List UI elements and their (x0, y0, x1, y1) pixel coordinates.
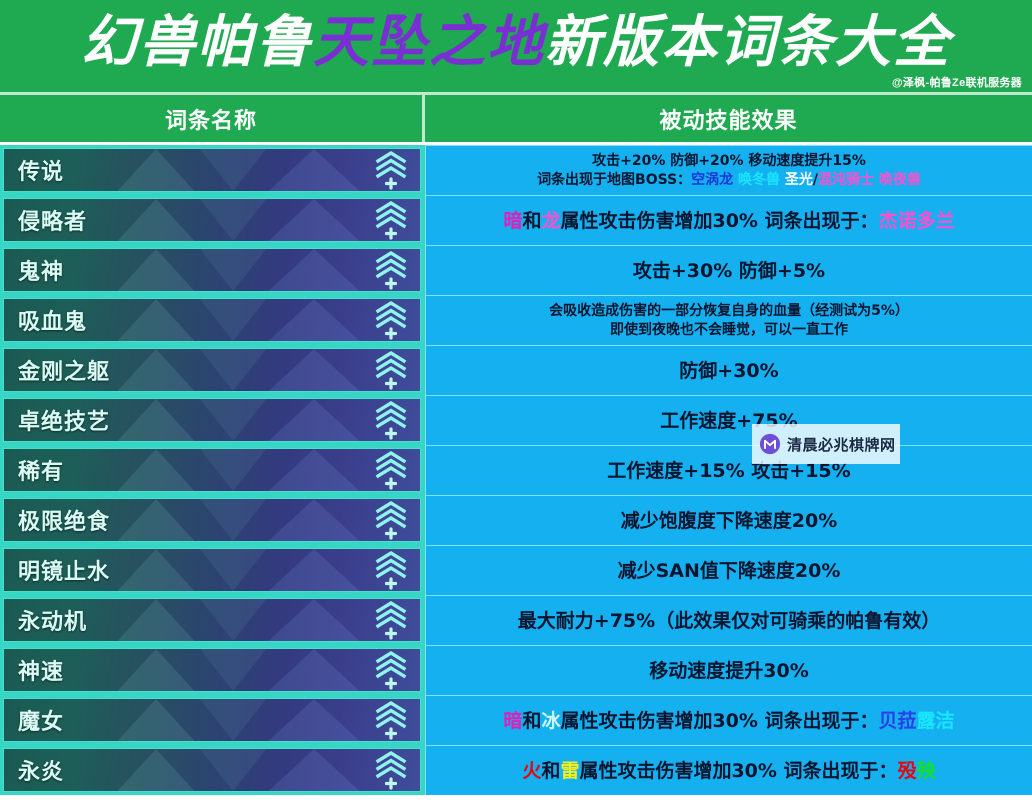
column-header-name: 词条名称 (0, 95, 425, 142)
trait-effect-cell: 工作速度+75% (425, 395, 1032, 445)
title-segment-3: 新版本词条大全 (545, 9, 951, 75)
effect-text-part: 减少饱腹度下降速度20% (621, 510, 837, 532)
table-row: 明镜止水减少SAN值下降速度20% (0, 545, 1032, 595)
effect-text-part: 移动速度提升30% (649, 660, 808, 682)
triple-chevron-plus-icon (374, 650, 408, 690)
trait-plaque: 魔女 (3, 698, 421, 742)
table-row: 吸血鬼会吸收造成伤害的一部分恢复自身的血量（经测试为5%）即使到夜晚也不会睡觉，… (0, 295, 1032, 345)
trait-effect-cell: 会吸收造成伤害的一部分恢复自身的血量（经测试为5%）即使到夜晚也不会睡觉，可以一… (425, 295, 1032, 345)
table-column-headers: 词条名称 被动技能效果 (0, 95, 1032, 145)
trait-name-label: 稀有 (18, 454, 64, 486)
effect-text-part: 即使到夜晚也不会睡觉，可以一直工作 (610, 322, 848, 338)
table-row: 侵略者暗和龙属性攻击伤害增加30% 词条出现于：杰诺多兰 (0, 195, 1032, 245)
triple-chevron-plus-icon (374, 300, 408, 340)
effect-text-part: 最大耐力+75%（此效果仅对可骑乘的帕鲁有效） (518, 610, 940, 632)
effect-line: 词条出现于地图BOSS：空涡龙 唤冬兽 圣光/混沌骑士 唤夜兽 (537, 171, 921, 190)
effect-text-part: 唤冬兽 (738, 172, 780, 188)
trait-name-label: 永动机 (18, 604, 87, 636)
effect-line: 防御+30% (679, 359, 778, 383)
triple-chevron-plus-icon (374, 350, 408, 390)
plaque-facet (195, 598, 271, 641)
trait-name-label: 卓绝技艺 (18, 404, 110, 436)
infographic-page: 幻兽帕鲁天坠之地新版本词条大全 @泽枫-帕鲁Ze联机服务器 词条名称 被动技能效… (0, 0, 1032, 800)
trait-plaque: 极限绝食 (3, 498, 421, 542)
effect-text-part: 唤夜兽 (879, 172, 921, 188)
triple-chevron-plus-icon (374, 300, 408, 340)
triple-chevron-plus-icon (374, 400, 408, 440)
effect-text-part: 属性攻击伤害增加30% 词条出现于： (560, 710, 878, 732)
page-title: 幻兽帕鲁天坠之地新版本词条大全 (0, 6, 1032, 78)
trait-name-label: 神速 (18, 654, 64, 686)
trait-effect-cell: 攻击+20% 防御+20% 移动速度提升15%词条出现于地图BOSS：空涡龙 唤… (425, 145, 1032, 195)
triple-chevron-plus-icon (374, 400, 408, 440)
effect-text-part: 龙 (541, 210, 560, 232)
effect-text-part: 空涡龙 (691, 172, 733, 188)
effect-text-part: 冰 (541, 710, 560, 732)
plaque-facet (195, 698, 271, 741)
effect-line: 暗和龙属性攻击伤害增加30% 词条出现于：杰诺多兰 (503, 209, 954, 233)
plaque-facet (195, 348, 271, 391)
table-row: 稀有工作速度+15% 攻击+15% (0, 445, 1032, 495)
column-header-effect: 被动技能效果 (425, 95, 1032, 142)
passive-trait-table: 传说攻击+20% 防御+20% 移动速度提升15%词条出现于地图BOSS：空涡龙… (0, 145, 1032, 795)
effect-line: 移动速度提升30% (649, 659, 808, 683)
trait-plaque: 吸血鬼 (3, 298, 421, 342)
effect-line: 最大耐力+75%（此效果仅对可骑乘的帕鲁有效） (518, 609, 940, 633)
triple-chevron-plus-icon (374, 650, 408, 690)
plaque-facet (195, 448, 271, 491)
trait-name-cell[interactable]: 鬼神 (0, 245, 425, 295)
effect-text-part: 属性攻击伤害增加30% 词条出现于： (579, 760, 897, 782)
trait-plaque: 永炎 (3, 748, 421, 792)
triple-chevron-plus-icon (374, 550, 408, 590)
table-row: 鬼神攻击+30% 防御+5% (0, 245, 1032, 295)
triple-chevron-plus-icon (374, 700, 408, 740)
plaque-facet (195, 648, 271, 691)
trait-name-label: 传说 (18, 154, 64, 186)
plaque-facet (195, 498, 271, 541)
trait-plaque: 神速 (3, 648, 421, 692)
triple-chevron-plus-icon (374, 250, 408, 290)
trait-name-label: 金刚之躯 (18, 354, 110, 386)
trait-plaque: 明镜止水 (3, 548, 421, 592)
table-row: 魔女暗和冰属性攻击伤害增加30% 词条出现于：贝菈露洁 (0, 695, 1032, 745)
trait-name-cell[interactable]: 稀有 (0, 445, 425, 495)
effect-text-part: 雷 (560, 760, 579, 782)
trait-name-cell[interactable]: 传说 (0, 145, 425, 195)
effect-text-part: 杰诺多兰 (879, 210, 955, 232)
effect-text-part: 和 (541, 760, 560, 782)
table-row: 极限绝食减少饱腹度下降速度20% (0, 495, 1032, 545)
trait-name-cell[interactable]: 吸血鬼 (0, 295, 425, 345)
trait-plaque: 卓绝技艺 (3, 398, 421, 442)
source-watermark: @泽枫-帕鲁Ze联机服务器 (892, 76, 1022, 90)
effect-line: 暗和冰属性攻击伤害增加30% 词条出现于：贝菈露洁 (503, 709, 954, 733)
effect-text-part: 工作速度+75% (660, 410, 797, 432)
effect-text-part: 和 (522, 710, 541, 732)
effect-text-part: 攻击+30% 防御+5% (633, 260, 825, 282)
triple-chevron-plus-icon (374, 200, 408, 240)
trait-name-label: 侵略者 (18, 204, 87, 236)
table-row: 永动机最大耐力+75%（此效果仅对可骑乘的帕鲁有效） (0, 595, 1032, 645)
plaque-facet (195, 748, 271, 791)
title-banner: 幻兽帕鲁天坠之地新版本词条大全 @泽枫-帕鲁Ze联机服务器 (0, 0, 1032, 95)
effect-text-part: 露洁 (917, 710, 955, 732)
trait-name-cell[interactable]: 极限绝食 (0, 495, 425, 545)
effect-line: 减少饱腹度下降速度20% (621, 509, 837, 533)
effect-text-part: 防御+30% (679, 360, 778, 382)
effect-text-part: 混沌骑士 (818, 172, 874, 188)
triple-chevron-plus-icon (374, 450, 408, 490)
title-segment-2: 天坠之地 (313, 9, 545, 75)
title-segment-1: 幻兽帕鲁 (81, 9, 313, 75)
triple-chevron-plus-icon (374, 200, 408, 240)
trait-name-cell[interactable]: 侵略者 (0, 195, 425, 245)
trait-name-label: 永炎 (18, 754, 64, 786)
trait-effect-cell: 火和雷属性攻击伤害增加30% 词条出现于：殁殃 (425, 745, 1032, 795)
trait-name-cell[interactable]: 卓绝技艺 (0, 395, 425, 445)
triple-chevron-plus-icon (374, 150, 408, 190)
table-row: 金刚之躯防御+30% (0, 345, 1032, 395)
effect-text-part: 减少SAN值下降速度20% (618, 560, 841, 582)
plaque-facet (195, 398, 271, 441)
triple-chevron-plus-icon (374, 350, 408, 390)
table-row: 卓绝技艺工作速度+75% (0, 395, 1032, 445)
trait-effect-cell: 暗和龙属性攻击伤害增加30% 词条出现于：杰诺多兰 (425, 195, 1032, 245)
effect-text-part: 会吸收造成伤害的一部分恢复自身的血量（经测试为5%） (549, 303, 909, 319)
trait-name-label: 明镜止水 (18, 554, 110, 586)
triple-chevron-plus-icon (374, 450, 408, 490)
trait-effect-cell: 防御+30% (425, 345, 1032, 395)
effect-text-part: 暗 (503, 710, 522, 732)
table-row: 神速移动速度提升30% (0, 645, 1032, 695)
effect-text-part: 和 (522, 210, 541, 232)
effect-line: 工作速度+75% (660, 409, 797, 433)
plaque-facet (195, 148, 271, 191)
triple-chevron-plus-icon (374, 750, 408, 790)
trait-plaque: 侵略者 (3, 198, 421, 242)
effect-line: 即使到夜晚也不会睡觉，可以一直工作 (610, 321, 848, 340)
trait-effect-cell: 工作速度+15% 攻击+15% (425, 445, 1032, 495)
effect-text-part: 殁 (898, 760, 917, 782)
triple-chevron-plus-icon (374, 750, 408, 790)
trait-effect-cell: 暗和冰属性攻击伤害增加30% 词条出现于：贝菈露洁 (425, 695, 1032, 745)
trait-name-label: 鬼神 (18, 254, 64, 286)
triple-chevron-plus-icon (374, 700, 408, 740)
trait-effect-cell: 移动速度提升30% (425, 645, 1032, 695)
effect-text-part: 攻击+20% 防御+20% 移动速度提升15% (592, 153, 866, 169)
trait-plaque: 鬼神 (3, 248, 421, 292)
trait-name-cell[interactable]: 神速 (0, 645, 425, 695)
trait-name-cell[interactable]: 金刚之躯 (0, 345, 425, 395)
effect-line: 攻击+30% 防御+5% (633, 259, 825, 283)
plaque-facet (195, 548, 271, 591)
trait-name-cell[interactable]: 永炎 (0, 745, 425, 795)
effect-line: 减少SAN值下降速度20% (618, 559, 841, 583)
effect-text-part: 殃 (917, 760, 936, 782)
trait-plaque: 金刚之躯 (3, 348, 421, 392)
trait-name-label: 极限绝食 (18, 504, 110, 536)
plaque-facet (195, 298, 271, 341)
effect-text-part: 圣光 (785, 172, 813, 188)
effect-line: 攻击+20% 防御+20% 移动速度提升15% (592, 152, 866, 171)
trait-effect-cell: 最大耐力+75%（此效果仅对可骑乘的帕鲁有效） (425, 595, 1032, 645)
trait-name-label: 吸血鬼 (18, 304, 87, 336)
plaque-facet (195, 198, 271, 241)
triple-chevron-plus-icon (374, 550, 408, 590)
effect-text-part: 火 (522, 760, 541, 782)
triple-chevron-plus-icon (374, 150, 408, 190)
trait-name-cell[interactable]: 永动机 (0, 595, 425, 645)
effect-text-part: 词条出现于地图BOSS： (537, 172, 691, 188)
effect-line: 火和雷属性攻击伤害增加30% 词条出现于：殁殃 (522, 759, 935, 783)
triple-chevron-plus-icon (374, 600, 408, 640)
triple-chevron-plus-icon (374, 500, 408, 540)
effect-text-part: 暗 (503, 210, 522, 232)
trait-name-cell[interactable]: 明镜止水 (0, 545, 425, 595)
effect-text-part: 贝菈 (879, 710, 917, 732)
trait-effect-cell: 减少SAN值下降速度20% (425, 545, 1032, 595)
trait-plaque: 稀有 (3, 448, 421, 492)
effect-text-part: 属性攻击伤害增加30% 词条出现于： (560, 210, 878, 232)
trait-name-label: 魔女 (18, 704, 64, 736)
table-row: 传说攻击+20% 防御+20% 移动速度提升15%词条出现于地图BOSS：空涡龙… (0, 145, 1032, 195)
trait-plaque: 传说 (3, 148, 421, 192)
table-row: 永炎火和雷属性攻击伤害增加30% 词条出现于：殁殃 (0, 745, 1032, 795)
effect-line: 会吸收造成伤害的一部分恢复自身的血量（经测试为5%） (549, 302, 909, 321)
effect-line: 工作速度+15% 攻击+15% (607, 459, 850, 483)
trait-effect-cell: 减少饱腹度下降速度20% (425, 495, 1032, 545)
trait-effect-cell: 攻击+30% 防御+5% (425, 245, 1032, 295)
trait-name-cell[interactable]: 魔女 (0, 695, 425, 745)
plaque-facet (195, 248, 271, 291)
trait-plaque: 永动机 (3, 598, 421, 642)
effect-text-part: 工作速度+15% 攻击+15% (607, 460, 850, 482)
triple-chevron-plus-icon (374, 600, 408, 640)
triple-chevron-plus-icon (374, 500, 408, 540)
triple-chevron-plus-icon (374, 250, 408, 290)
